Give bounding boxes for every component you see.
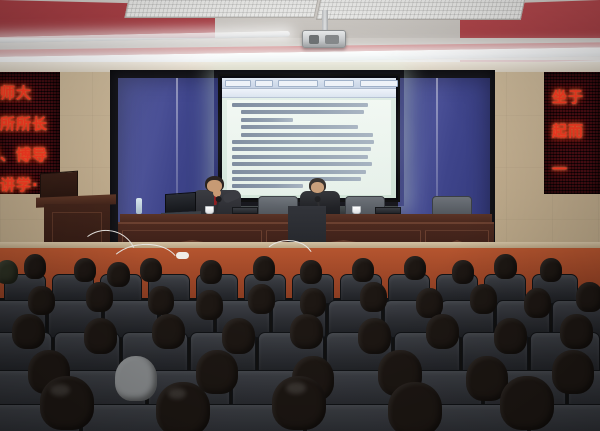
audience-head [196, 290, 223, 320]
audience-head [12, 314, 45, 349]
audience-head [470, 284, 497, 314]
audience-head [560, 314, 593, 349]
ceiling-projector-icon [302, 30, 346, 48]
ceiling-grid-panel [124, 0, 321, 18]
led-text-line: 坐于 [552, 90, 584, 105]
audience-head [140, 258, 162, 282]
water-bottle-icon [136, 198, 142, 214]
audience-head [253, 256, 275, 281]
audience-head [494, 318, 527, 354]
audience-head [576, 282, 600, 312]
audience-area [0, 252, 600, 431]
audience-head [0, 260, 18, 284]
audience-head [524, 288, 551, 318]
led-text-line: 科讲学· [0, 178, 39, 193]
led-text-line: 起而 [552, 124, 584, 139]
ceiling-grid-panel [316, 0, 530, 20]
audience-head [148, 286, 174, 315]
projector-mount [322, 10, 328, 32]
audience-head [40, 376, 94, 430]
audience-head [115, 356, 157, 401]
cup-icon [205, 206, 214, 214]
nameplate [375, 207, 401, 214]
led-text-line: 建师大 [0, 86, 32, 101]
audience-head [196, 350, 238, 394]
audience-head [84, 318, 117, 354]
cup-icon [352, 206, 361, 214]
lecture-hall-photo: 建师大 院所所长 授、博导 科讲学· 坐于 起而 一 [0, 0, 600, 431]
word-ruler [222, 89, 396, 98]
audience-head [28, 286, 55, 315]
led-text-line: 一 [552, 162, 568, 177]
audience-head [200, 260, 222, 284]
audience-head [500, 376, 554, 430]
audience-head [452, 260, 474, 284]
audience-head [300, 288, 326, 317]
audience-head [107, 262, 130, 287]
audience-head [358, 318, 391, 354]
nameplate [232, 207, 258, 214]
led-text-line: 授、博导 [0, 148, 48, 163]
audience-head [74, 258, 96, 282]
audience-head [300, 260, 322, 284]
audience-head [360, 282, 387, 312]
led-banner-right: 坐于 起而 一 [544, 72, 600, 194]
audience-head [540, 258, 562, 282]
audience-head [404, 256, 426, 280]
audience-head [86, 282, 113, 312]
audience-head [222, 318, 255, 354]
audience-head [24, 254, 46, 279]
audience-head [290, 314, 323, 349]
audience-head [388, 382, 442, 431]
audience-head [552, 350, 594, 394]
audience-head [152, 314, 185, 349]
audience-head [248, 284, 275, 314]
ceiling [0, 0, 600, 70]
audience-head [352, 258, 374, 282]
word-toolbar [222, 78, 396, 89]
audience-head [426, 314, 459, 349]
led-text-line: 院所所长 [0, 117, 48, 132]
audience-head [494, 254, 517, 279]
